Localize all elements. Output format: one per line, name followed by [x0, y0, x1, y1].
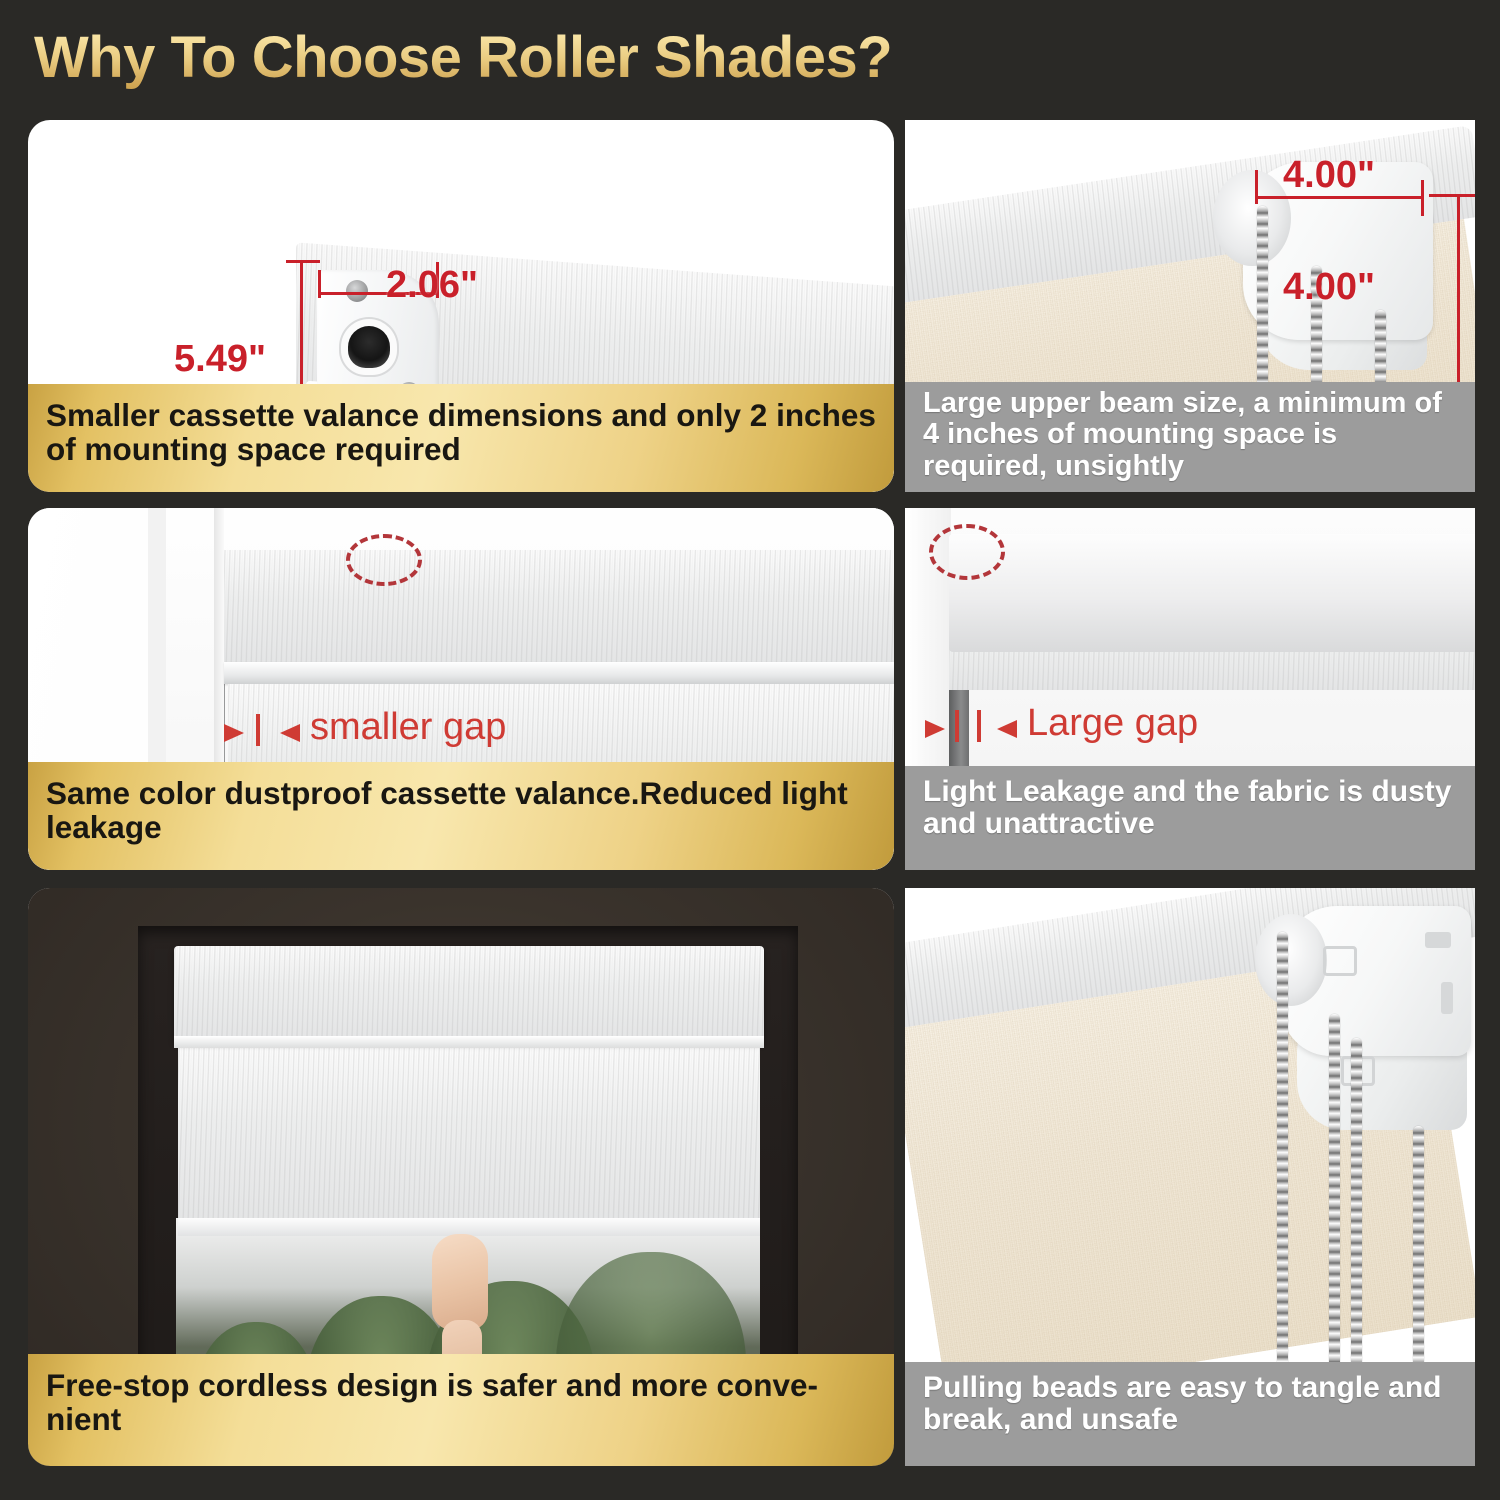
- roller-tube-end: [1255, 914, 1327, 1006]
- bracket-slot-1: [1425, 932, 1451, 948]
- gap-arrow-right-icon: [280, 724, 300, 742]
- bead-chain-1[interactable]: [1277, 932, 1288, 1418]
- dimension-label-height: 5.49": [174, 338, 266, 381]
- gap-annotation-label: smaller gap: [310, 706, 506, 749]
- dimension-label-width: 2.06": [386, 264, 478, 307]
- shade-upper-fabric: [224, 550, 894, 668]
- infographic-root: Why To Choose Roller Shades? 2.06" 5.49"…: [0, 0, 1500, 1500]
- panel-1-caption: Smaller cassette valance dimensions and …: [28, 384, 894, 492]
- cassette-valance-installed: [174, 946, 764, 1042]
- bead-chain-3[interactable]: [1351, 1038, 1362, 1418]
- shade-fabric-panel: [178, 1048, 760, 1226]
- dim-tick-height-top: [286, 260, 320, 263]
- bracket-slot-2: [1441, 982, 1453, 1014]
- largegap-marker-bar-2: [977, 710, 981, 742]
- dim-tick-beam-w-left: [1255, 170, 1258, 204]
- gap-marker-bar: [256, 714, 260, 746]
- largegap-marker-bar-1: [955, 710, 959, 742]
- panel-smaller-cassette: 2.06" 5.49" Smaller cassette valance dim…: [28, 120, 894, 492]
- screw-top-icon: [346, 280, 368, 302]
- highlight-circle-leak: [929, 524, 1005, 580]
- cassette-valance-installed-lip: [174, 1036, 764, 1048]
- gap-arrow-left-icon: [224, 724, 244, 742]
- panel-cordless-design: Free-stop cordless design is safer and m…: [28, 888, 894, 1466]
- cassette-slot: [348, 326, 390, 368]
- bracket-arrow-icon: [1323, 946, 1357, 976]
- largegap-arrow-left-icon: [925, 720, 945, 738]
- panel-2-caption: Large upper beam size, a minimum of 4 in…: [905, 382, 1475, 492]
- panel-pulling-beads: Pulling beads are easy to tangle and bre…: [905, 888, 1475, 1466]
- roll-tube-end: [1213, 170, 1291, 266]
- dim-tick-beam-w-right: [1421, 180, 1424, 216]
- hand-palm: [432, 1234, 488, 1330]
- largegap-annotation-label: Large gap: [1027, 702, 1198, 745]
- shade-head-rail: [949, 534, 1475, 652]
- dimension-label-beam-height: 4.00": [1283, 266, 1375, 309]
- page-title: Why To Choose Roller Shades?: [34, 22, 892, 94]
- shade-middle-rail: [224, 662, 894, 684]
- panel-large-upper-beam: 4.00" 4.00" Large upper beam size, a min…: [905, 120, 1475, 492]
- dimension-label-beam-width: 4.00": [1283, 154, 1375, 197]
- panel-dustproof-valance: smaller gap Same color dustproof cassett…: [28, 508, 894, 870]
- panel-4-caption: Light Leakage and the fabric is dusty an…: [905, 766, 1475, 870]
- largegap-arrow-right-icon: [997, 720, 1017, 738]
- panel-3-caption: Same color dustproof cassette valance.Re…: [28, 762, 894, 870]
- panel-light-leakage: Large gap Light Leakage and the fabric i…: [905, 508, 1475, 870]
- panel-5-caption: Free-stop cordless design is safer and m…: [28, 1354, 894, 1466]
- highlight-circle-gap: [346, 534, 422, 586]
- panel-6-caption: Pulling beads are easy to tangle and bre…: [905, 1362, 1475, 1466]
- dim-tick-beam-h-top: [1429, 194, 1475, 197]
- dim-tick-width-left: [318, 270, 321, 298]
- bead-chain-2[interactable]: [1329, 1014, 1340, 1418]
